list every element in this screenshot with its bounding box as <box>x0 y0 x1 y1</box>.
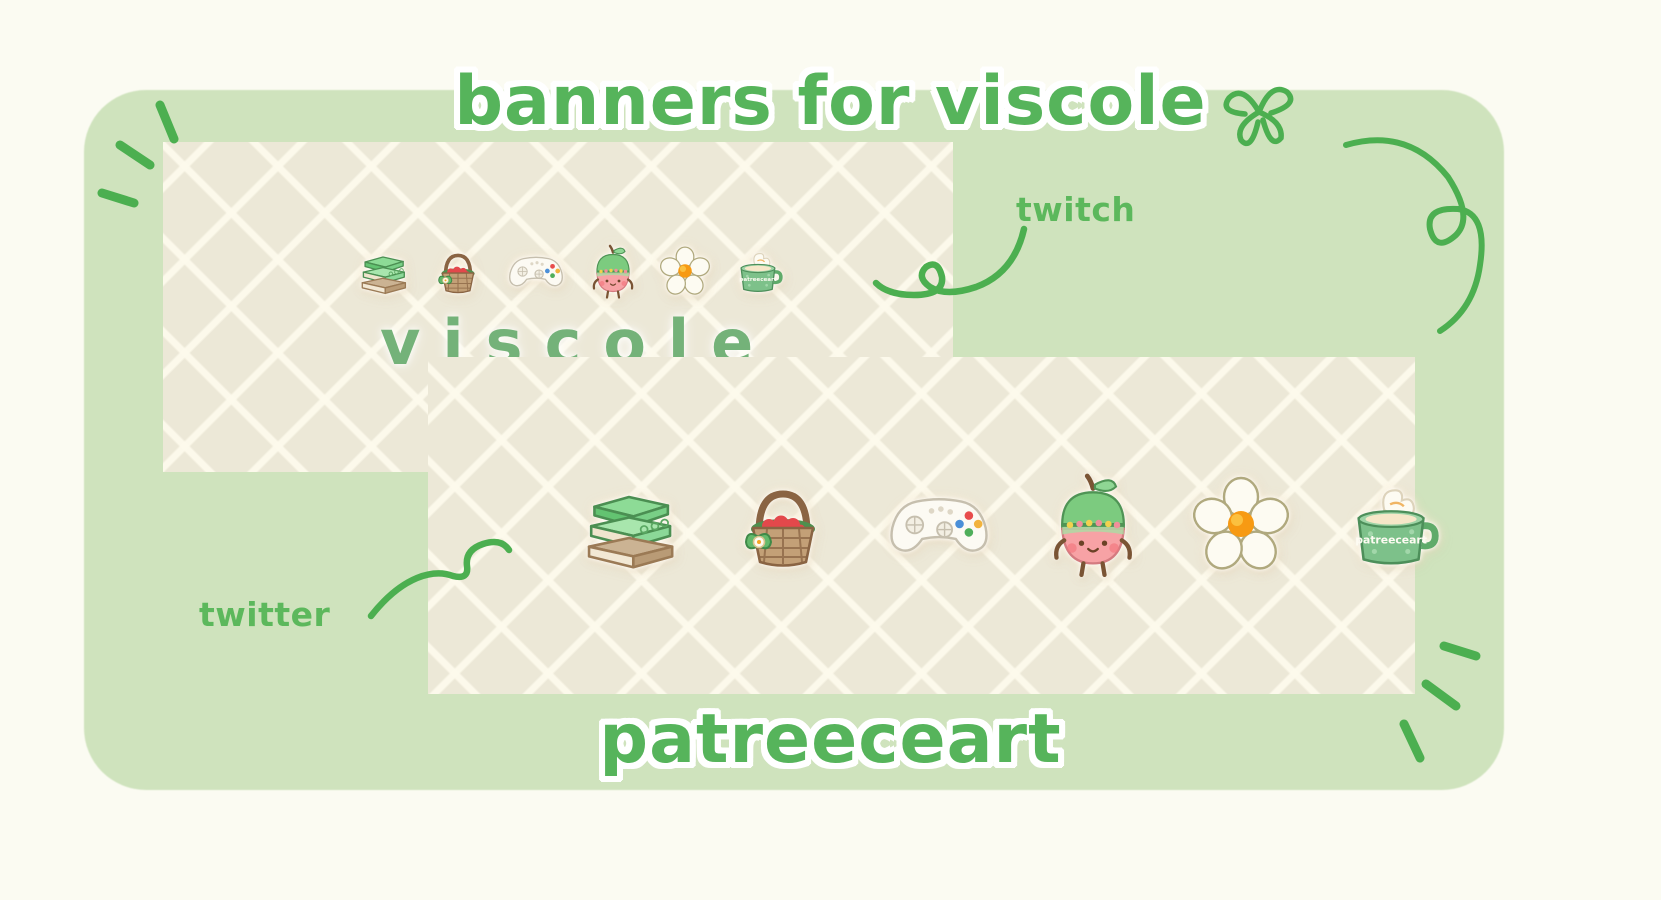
canvas: patreeceart viscole <box>0 0 1661 900</box>
page-title-top: banners for viscole <box>0 62 1661 141</box>
page-title-bottom: patreeceart <box>0 700 1661 779</box>
mug-text: patreeceart <box>739 277 776 283</box>
apple-character-icon <box>1045 471 1141 581</box>
game-controller-icon <box>505 248 567 298</box>
twitter-banner-icon-row: patreeceart <box>575 470 1449 582</box>
twitch-banner-icon-row: patreeceart <box>355 243 788 303</box>
coffee-mug-icon: patreeceart <box>1341 474 1449 578</box>
book-stack-icon <box>575 470 683 582</box>
daisy-flower-icon <box>1191 474 1291 578</box>
book-stack-icon <box>355 243 411 303</box>
strawberry-basket-icon <box>432 243 484 303</box>
game-controller-icon <box>883 484 995 568</box>
daisy-flower-icon <box>659 245 711 301</box>
mug-text: patreeceart <box>1355 534 1427 547</box>
coffee-mug-icon: patreeceart <box>732 245 788 301</box>
apple-character-icon <box>588 243 638 303</box>
label-twitch: twitch <box>1016 190 1135 229</box>
label-twitter: twitter <box>199 595 330 634</box>
strawberry-basket-icon <box>733 470 833 582</box>
